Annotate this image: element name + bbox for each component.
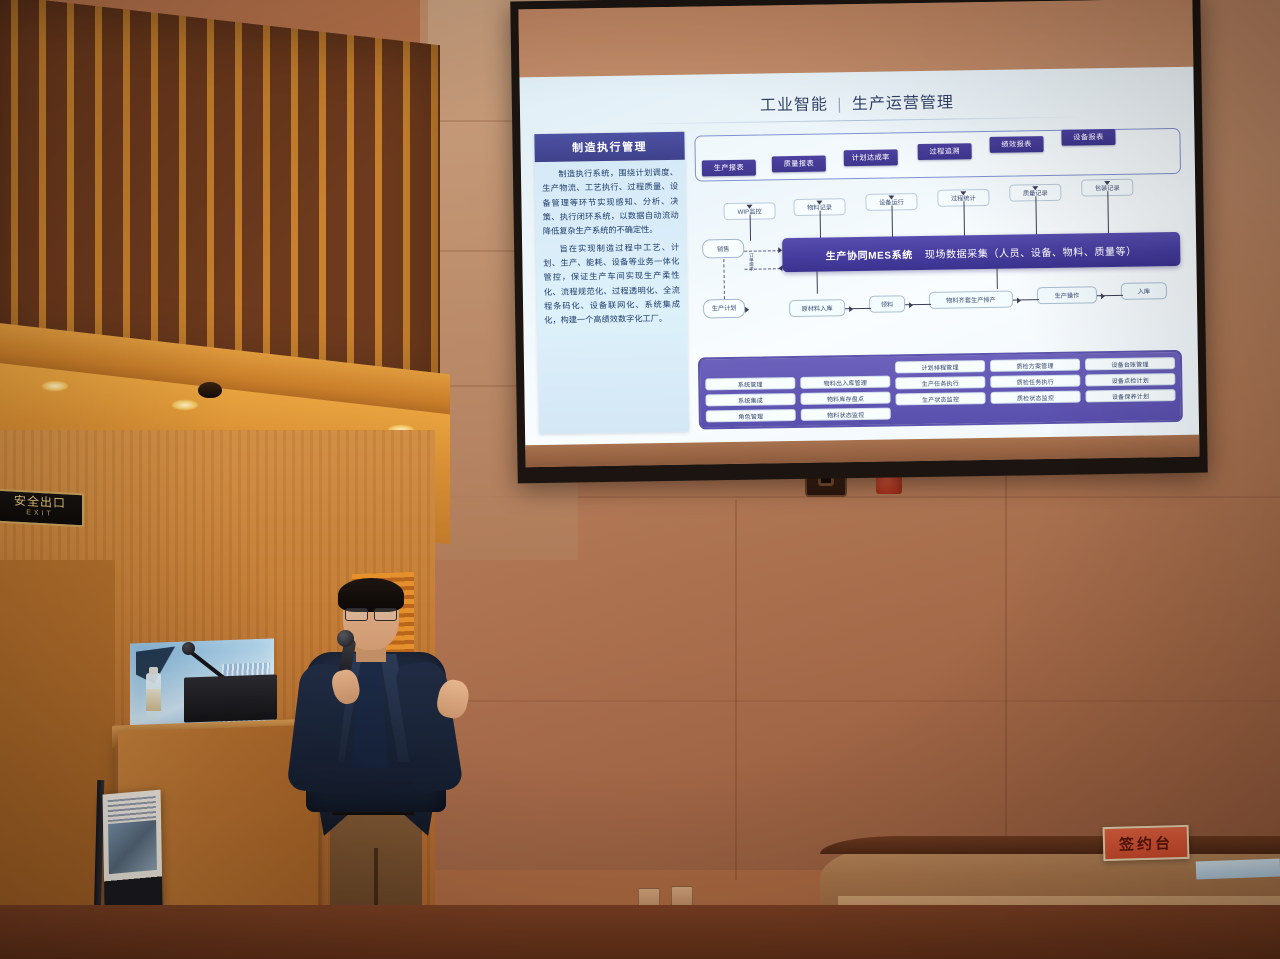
- exit-sign-label-en: EXIT: [26, 508, 54, 521]
- grid-cell: 系统集成: [705, 393, 795, 406]
- grid-column: 系统管理 系统集成 角色管理: [705, 363, 796, 422]
- grid-column: 设备台账管理 设备点检计划 设备保养计划: [1085, 357, 1176, 416]
- connector-line: [845, 308, 871, 309]
- connector-line: [1097, 295, 1123, 296]
- connector-line-dashed: [723, 259, 725, 299]
- poster-text-block: [108, 796, 156, 822]
- report-chip: 质量报表: [772, 156, 826, 173]
- architecture-diagram: 生产报表 质量报表 计划达成率 过程追溯 绩效报表 设备报表 WIP监控 物料记…: [694, 124, 1185, 432]
- mes-system-subtitle: 现场数据采集（人员、设备、物料、质量等）: [925, 242, 1137, 260]
- arrow-icon: [816, 201, 822, 205]
- flow-node: 领料: [869, 295, 905, 313]
- report-chip: 过程追溯: [918, 143, 972, 160]
- grid-cell: 质检任务执行: [990, 375, 1080, 388]
- presenter-hair: [338, 578, 404, 612]
- connector-line-dashed: [744, 250, 780, 252]
- projection-screen-surface: 工业智能 | 生产运营管理 制造执行管理 制造执行系统，围绕计划调度、生产物流、…: [518, 0, 1199, 467]
- table-paper: [1196, 859, 1280, 880]
- grid-cell-spacer: [1086, 405, 1176, 416]
- grid-cell: 计划排程管理: [895, 360, 985, 373]
- grid-column: 物料出入库管理 物料库存盘点 物料状态监控: [800, 362, 891, 421]
- node-sales: 销售: [702, 239, 744, 259]
- grid-column: 质检方案管理 质检任务执行 质检状态监控: [990, 359, 1081, 418]
- connector-label: 订单需求: [748, 253, 754, 271]
- screen-blank-area: [518, 0, 1193, 77]
- connector-line: [1013, 299, 1039, 300]
- grid-cell: 质检方案管理: [990, 359, 1080, 372]
- grid-cell: 设备台账管理: [1085, 357, 1175, 370]
- report-chip: 绩效报表: [989, 136, 1043, 153]
- downlight: [172, 400, 198, 410]
- left-description-card: 制造执行管理 制造执行系统，围绕计划调度、生产物流、工艺执行、过程质量、设备管理…: [534, 132, 689, 434]
- bottle-label: [146, 689, 161, 711]
- stage-floor: [0, 905, 1280, 959]
- arrow-icon: [745, 307, 749, 313]
- grid-cell: 设备点检计划: [1085, 373, 1175, 386]
- projection-screen: 工业智能 | 生产运营管理 制造执行管理 制造执行系统，围绕计划调度、生产物流、…: [510, 0, 1207, 483]
- grid-cell: 角色管理: [706, 409, 796, 422]
- grid-cell: 设备保养计划: [1085, 389, 1175, 402]
- process-flow-row: 原材料入库 领料 物料齐套生产排产 生产操作 入库: [783, 284, 1181, 314]
- exit-sign: 安全出口 EXIT: [0, 489, 84, 528]
- arrow-icon: [1032, 186, 1038, 190]
- slide-body: 制造执行管理 制造执行系统，围绕计划调度、生产物流、工艺执行、过程质量、设备管理…: [534, 124, 1185, 434]
- arrow-icon: [960, 191, 966, 195]
- slide-title-main: 工业智能: [760, 96, 828, 114]
- grid-cell: 物料库存盘点: [800, 392, 890, 405]
- downlight: [42, 381, 68, 391]
- poster-photo: [108, 820, 157, 874]
- grid-cell: 物料状态监控: [801, 408, 891, 421]
- presentation-photo-scene: 安全出口 EXIT 工业智能 | 生产运营管理 制造执行管理: [0, 0, 1280, 959]
- left-card-paragraph-1: 制造执行系统，围绕计划调度、生产物流、工艺执行、过程质量、设备管理等环节实现感知…: [542, 166, 679, 240]
- wall-seam-vertical: [735, 500, 737, 880]
- flow-node: 物料齐套生产排产: [929, 291, 1013, 309]
- mes-system-name: 生产协同MES系统: [826, 246, 913, 262]
- left-card-body: 制造执行系统，围绕计划调度、生产物流、工艺执行、过程质量、设备管理等环节实现感知…: [535, 160, 688, 338]
- glasses-icon: [345, 608, 397, 619]
- signing-table-sign: 签约台: [1103, 825, 1190, 861]
- report-chip: 生产报表: [702, 160, 756, 177]
- report-chip: 计划达成率: [844, 149, 898, 166]
- report-rail: 生产报表 质量报表 计划达成率 过程追溯 绩效报表 设备报表: [694, 128, 1181, 182]
- grid-cell: 生产状态监控: [895, 392, 985, 405]
- flow-node: 入库: [1121, 282, 1167, 300]
- connector-line: [905, 304, 931, 305]
- signing-table-sign-label: 签约台: [1119, 832, 1174, 854]
- mes-system-bar: 生产协同MES系统 现场数据采集（人员、设备、物料、质量等）: [782, 232, 1180, 272]
- report-chip: 设备报表: [1061, 129, 1115, 146]
- grid-cell-spacer: [896, 408, 986, 419]
- grid-cell-spacer: [800, 362, 890, 373]
- grid-cell-spacer: [705, 363, 795, 374]
- slide-title-sub: 生产运营管理: [852, 94, 954, 113]
- wall-seam-vertical: [1005, 470, 1007, 870]
- ceiling-speaker-icon: [198, 382, 222, 398]
- arrow-icon: [888, 195, 894, 199]
- grid-column: 计划排程管理 生产任务执行 生产状态监控: [895, 360, 986, 419]
- grid-cell: 系统管理: [705, 377, 795, 390]
- bottle-cap: [149, 667, 158, 674]
- laptop[interactable]: [184, 674, 277, 722]
- grid-cell: 质检状态监控: [990, 391, 1080, 404]
- grid-cell-spacer: [991, 407, 1081, 418]
- slide-content: 工业智能 | 生产运营管理 制造执行管理 制造执行系统，围绕计划调度、生产物流、…: [519, 67, 1199, 450]
- arrow-icon: [1104, 181, 1110, 185]
- left-card-heading: 制造执行管理: [534, 132, 684, 162]
- podium-microphone-icon: [182, 642, 195, 655]
- grid-cell: 生产任务执行: [895, 376, 985, 389]
- flow-node: 原材料入库: [789, 299, 845, 317]
- left-card-paragraph-2: 旨在实现制造过程中工艺、计划、生产、能耗、设备等业务一体化管控，保证生产车间实现…: [543, 241, 680, 329]
- signing-table-top: [820, 836, 1280, 854]
- node-production-plan: 生产计划: [703, 299, 745, 319]
- water-bottle: [146, 673, 161, 721]
- flow-node: 生产操作: [1037, 286, 1097, 304]
- slide-title-separator: |: [833, 96, 846, 113]
- wall-seam-horizontal: [420, 700, 1280, 702]
- presenter: [288, 582, 483, 959]
- microphone-head-icon: [337, 630, 354, 647]
- connector-line: [817, 272, 818, 294]
- arrow-icon: [746, 205, 752, 209]
- function-module-grid: 系统管理 系统集成 角色管理 物料出入库管理 物料库存盘点 物料状态监控: [698, 350, 1183, 430]
- grid-cell: 物料出入库管理: [800, 376, 890, 389]
